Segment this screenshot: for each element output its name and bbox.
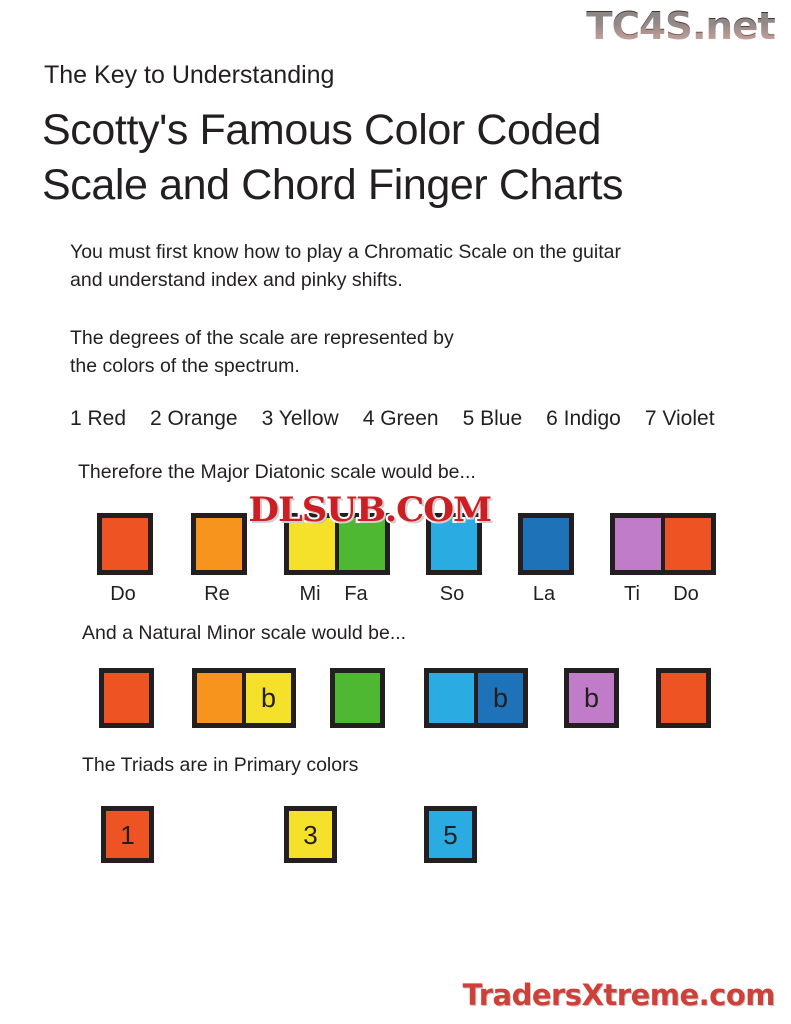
minor_scale-group-5: b [564, 668, 619, 728]
minor_scale-swatch-5-1: b [569, 673, 614, 723]
major_scale-group-6 [610, 513, 716, 575]
major-scale-label-7: Ti [624, 583, 640, 606]
minor_scale-group-2: b [192, 668, 296, 728]
major_scale-group-2 [191, 513, 247, 575]
minor_scale-group-3 [330, 668, 385, 728]
tc4s-logo: TC4S.net [586, 4, 775, 48]
page-title: Scotty's Famous Color Coded Scale and Ch… [42, 103, 623, 213]
major_scale-swatch-2-1 [196, 518, 242, 570]
spectrum-legend-item-1: 1 Red [70, 407, 126, 431]
tradersxtreme-logo: TradersXtreme.com [463, 978, 775, 1012]
page-kicker: The Key to Understanding [44, 62, 334, 90]
major_scale-group-1 [97, 513, 153, 575]
minor_scale-swatch-6-1 [661, 673, 706, 723]
minor_scale-group-4: b [424, 668, 528, 728]
triads-group-3: 5 [424, 806, 477, 863]
triads-swatch-1-1: 1 [106, 811, 149, 858]
major-scale-label-8: Do [673, 583, 699, 606]
major_scale-swatch-1-1 [102, 518, 148, 570]
dlsub-watermark: DLSUB.COM [248, 490, 491, 530]
major_scale-group-5 [518, 513, 574, 575]
triads-swatch-row: 135 [0, 806, 791, 876]
minor_scale-swatch-2-2: b [246, 673, 291, 723]
major-scale-label-3: Mi [299, 583, 320, 606]
paragraph-chromatic: You must first know how to play a Chroma… [70, 239, 621, 294]
minor_scale-swatch-3-1 [335, 673, 380, 723]
major-scale-label-5: So [440, 583, 464, 606]
minor_scale-swatch-4-1 [429, 673, 474, 723]
triads-group-2: 3 [284, 806, 337, 863]
triads-group-1: 1 [101, 806, 154, 863]
major-scale-label-1: Do [110, 583, 136, 606]
triads-swatch-3-1: 5 [429, 811, 472, 858]
caption-triads: The Triads are in Primary colors [82, 754, 358, 777]
minor_scale-group-1 [99, 668, 154, 728]
minor_scale-swatch-1-1 [104, 673, 149, 723]
major_scale-swatch-6-1 [615, 518, 661, 570]
spectrum-legend-item-5: 5 Blue [463, 407, 523, 431]
paragraph-degrees: The degrees of the scale are represented… [70, 325, 454, 380]
spectrum-legend-item-7: 7 Violet [645, 407, 715, 431]
spectrum-legend-item-4: 4 Green [363, 407, 439, 431]
minor_scale-swatch-2-1 [197, 673, 242, 723]
caption-minor-scale: And a Natural Minor scale would be... [82, 622, 406, 645]
spectrum-legend-item-2: 2 Orange [150, 407, 238, 431]
triads-swatch-2-1: 3 [289, 811, 332, 858]
major-scale-label-4: Fa [344, 583, 367, 606]
major_scale-swatch-6-2 [665, 518, 711, 570]
spectrum-legend-item-6: 6 Indigo [546, 407, 621, 431]
minor-scale-swatch-row: bbb [0, 668, 791, 738]
major-scale-label-6: La [533, 583, 555, 606]
minor_scale-swatch-4-2: b [478, 673, 523, 723]
spectrum-legend-item-3: 3 Yellow [262, 407, 339, 431]
major-scale-labels: DoReMiFaSoLaTiDo [0, 583, 791, 609]
major_scale-swatch-5-1 [523, 518, 569, 570]
minor_scale-group-6 [656, 668, 711, 728]
major-scale-label-2: Re [204, 583, 230, 606]
spectrum-legend: 1 Red2 Orange3 Yellow4 Green5 Blue6 Indi… [70, 407, 715, 431]
caption-major-scale: Therefore the Major Diatonic scale would… [78, 461, 476, 484]
